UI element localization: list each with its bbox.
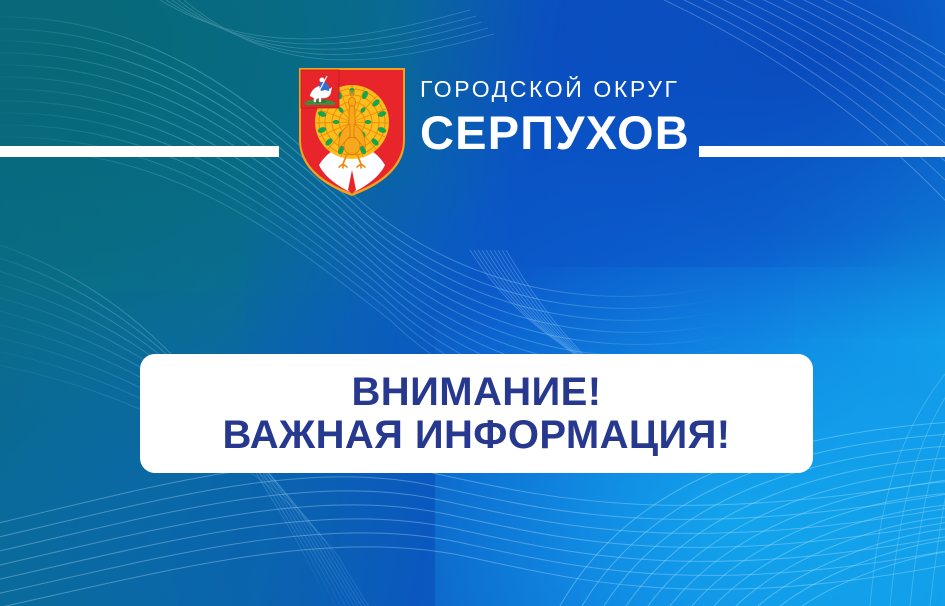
header-rule-right — [699, 146, 945, 157]
header-titles: ГОРОДСКОЙ ОКРУГ СЕРПУХОВ — [420, 78, 690, 156]
page-supertitle: ГОРОДСКОЙ ОКРУГ — [420, 78, 690, 101]
banner-root: ГОРОДСКОЙ ОКРУГ СЕРПУХОВ ВНИМАНИЕ! ВАЖНА… — [0, 0, 945, 606]
coat-of-arms-icon — [297, 66, 407, 198]
header-band: ГОРОДСКОЙ ОКРУГ СЕРПУХОВ — [0, 56, 945, 204]
crest-canton-st-george — [301, 70, 339, 108]
announcement-card: ВНИМАНИЕ! ВАЖНАЯ ИНФОРМАЦИЯ! — [140, 354, 813, 473]
announcement-line-2: ВАЖНАЯ ИНФОРМАЦИЯ! — [222, 414, 730, 457]
header-rule-left — [0, 146, 279, 157]
page-title: СЕРПУХОВ — [420, 109, 690, 156]
announcement-line-1: ВНИМАНИЕ! — [352, 371, 602, 414]
